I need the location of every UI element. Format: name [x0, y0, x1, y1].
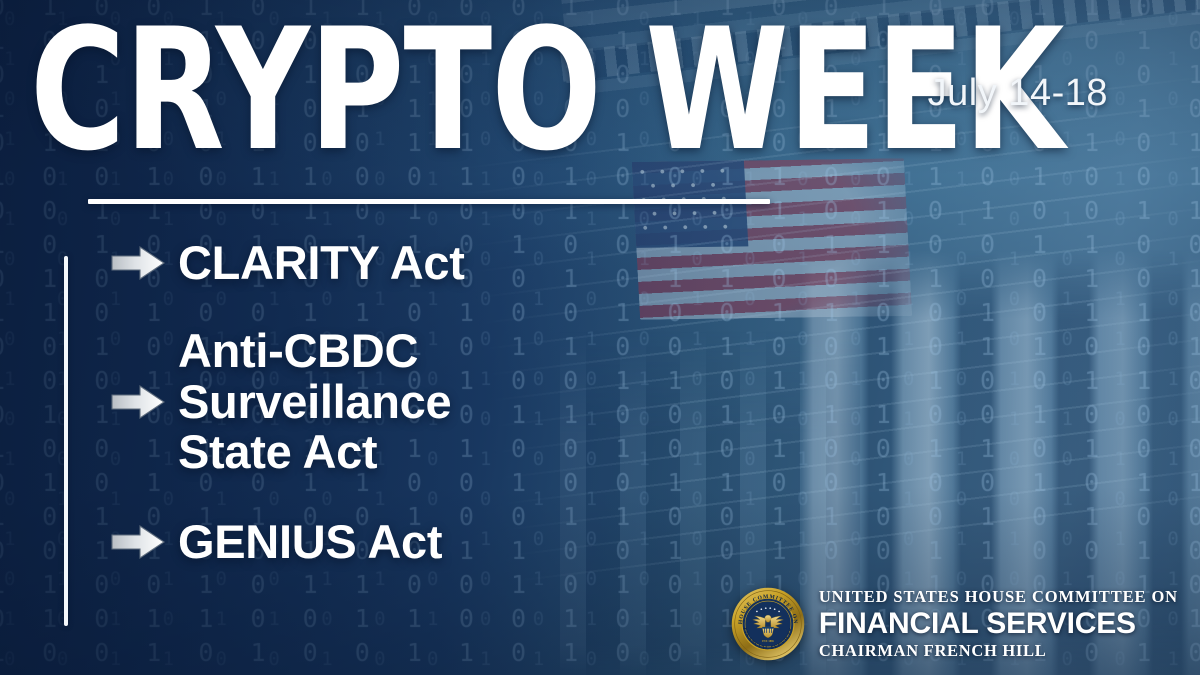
list-item-label: CLARITY Act [178, 238, 465, 288]
list-item: GENIUS Act [110, 517, 750, 567]
committee-line-1: UNITED STATES HOUSE COMMITTEE ON [819, 589, 1178, 606]
house-financial-services-seal-icon: HOUSE COMMITTEE ON FINANCIAL SERVICES [731, 587, 805, 661]
list-item: CLARITY Act [110, 238, 750, 288]
horizontal-divider [88, 199, 770, 204]
list-item-label: GENIUS Act [178, 517, 442, 567]
vertical-divider [64, 256, 68, 626]
content-layer: CRYPTO WEEK July 14-18 [0, 0, 1200, 675]
bill-list: CLARITY Act Anti- [110, 236, 750, 593]
svg-text:EST. 1865: EST. 1865 [762, 640, 774, 643]
list-item-label: Anti-CBDC Surveillance State Act [178, 326, 451, 477]
arrow-right-icon [110, 384, 166, 420]
page-title: CRYPTO WEEK [30, 6, 1064, 174]
date-range: July 14-18 [928, 72, 1108, 115]
committee-line-2: FINANCIAL SERVICES [819, 609, 1178, 639]
arrow-right-icon [110, 524, 166, 560]
list-item: Anti-CBDC Surveillance State Act [110, 326, 750, 477]
committee-text: UNITED STATES HOUSE COMMITTEE ON FINANCI… [819, 589, 1178, 659]
committee-line-3: CHAIRMAN FRENCH HILL [819, 643, 1178, 660]
committee-lockup: HOUSE COMMITTEE ON FINANCIAL SERVICES [731, 587, 1178, 661]
arrow-right-icon [110, 245, 166, 281]
crypto-week-graphic: 0 1 0 0 1 0 1 1 0 0 0 1 0 1 1 0 0 1 0 0 … [0, 0, 1200, 675]
